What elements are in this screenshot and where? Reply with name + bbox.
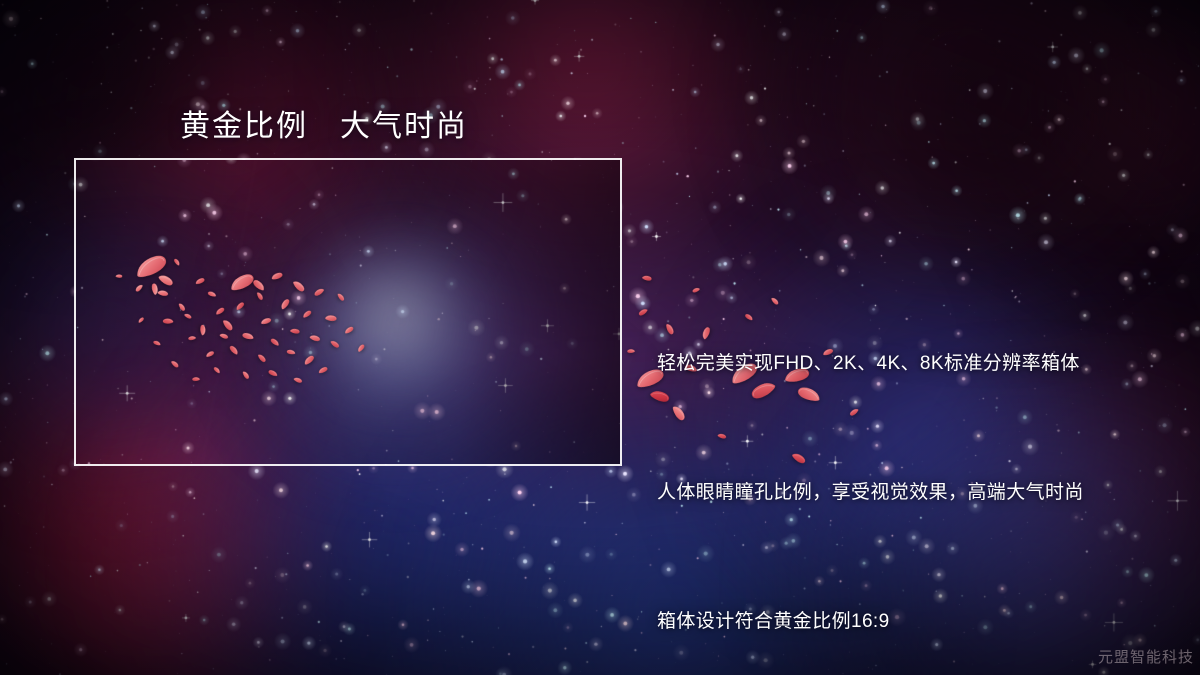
preview-frame[interactable]: [74, 158, 622, 466]
feature-line-3: 箱体设计符合黄金比例16:9: [657, 600, 1084, 643]
feature-line-1: 轻松完美实现FHD、2K、4K、8K标准分辨率箱体: [657, 342, 1084, 385]
page-title: 黄金比例 大气时尚: [180, 101, 468, 145]
slide-root: 黄金比例 大气时尚 轻松完美实现FHD、2K、4K、8K标准分辨率箱体 人体眼睛…: [0, 0, 1200, 675]
feature-description: 轻松完美实现FHD、2K、4K、8K标准分辨率箱体 人体眼睛瞳孔比例，享受视觉效…: [657, 256, 1084, 675]
preview-frame-content: [76, 160, 620, 464]
preview-frame-shade: [76, 160, 620, 464]
nebula-dark-top-right: [720, 0, 1200, 284]
watermark: 元盟智能科技: [1098, 646, 1194, 667]
feature-line-2: 人体眼睛瞳孔比例，享受视觉效果，高端大气时尚: [657, 471, 1084, 514]
